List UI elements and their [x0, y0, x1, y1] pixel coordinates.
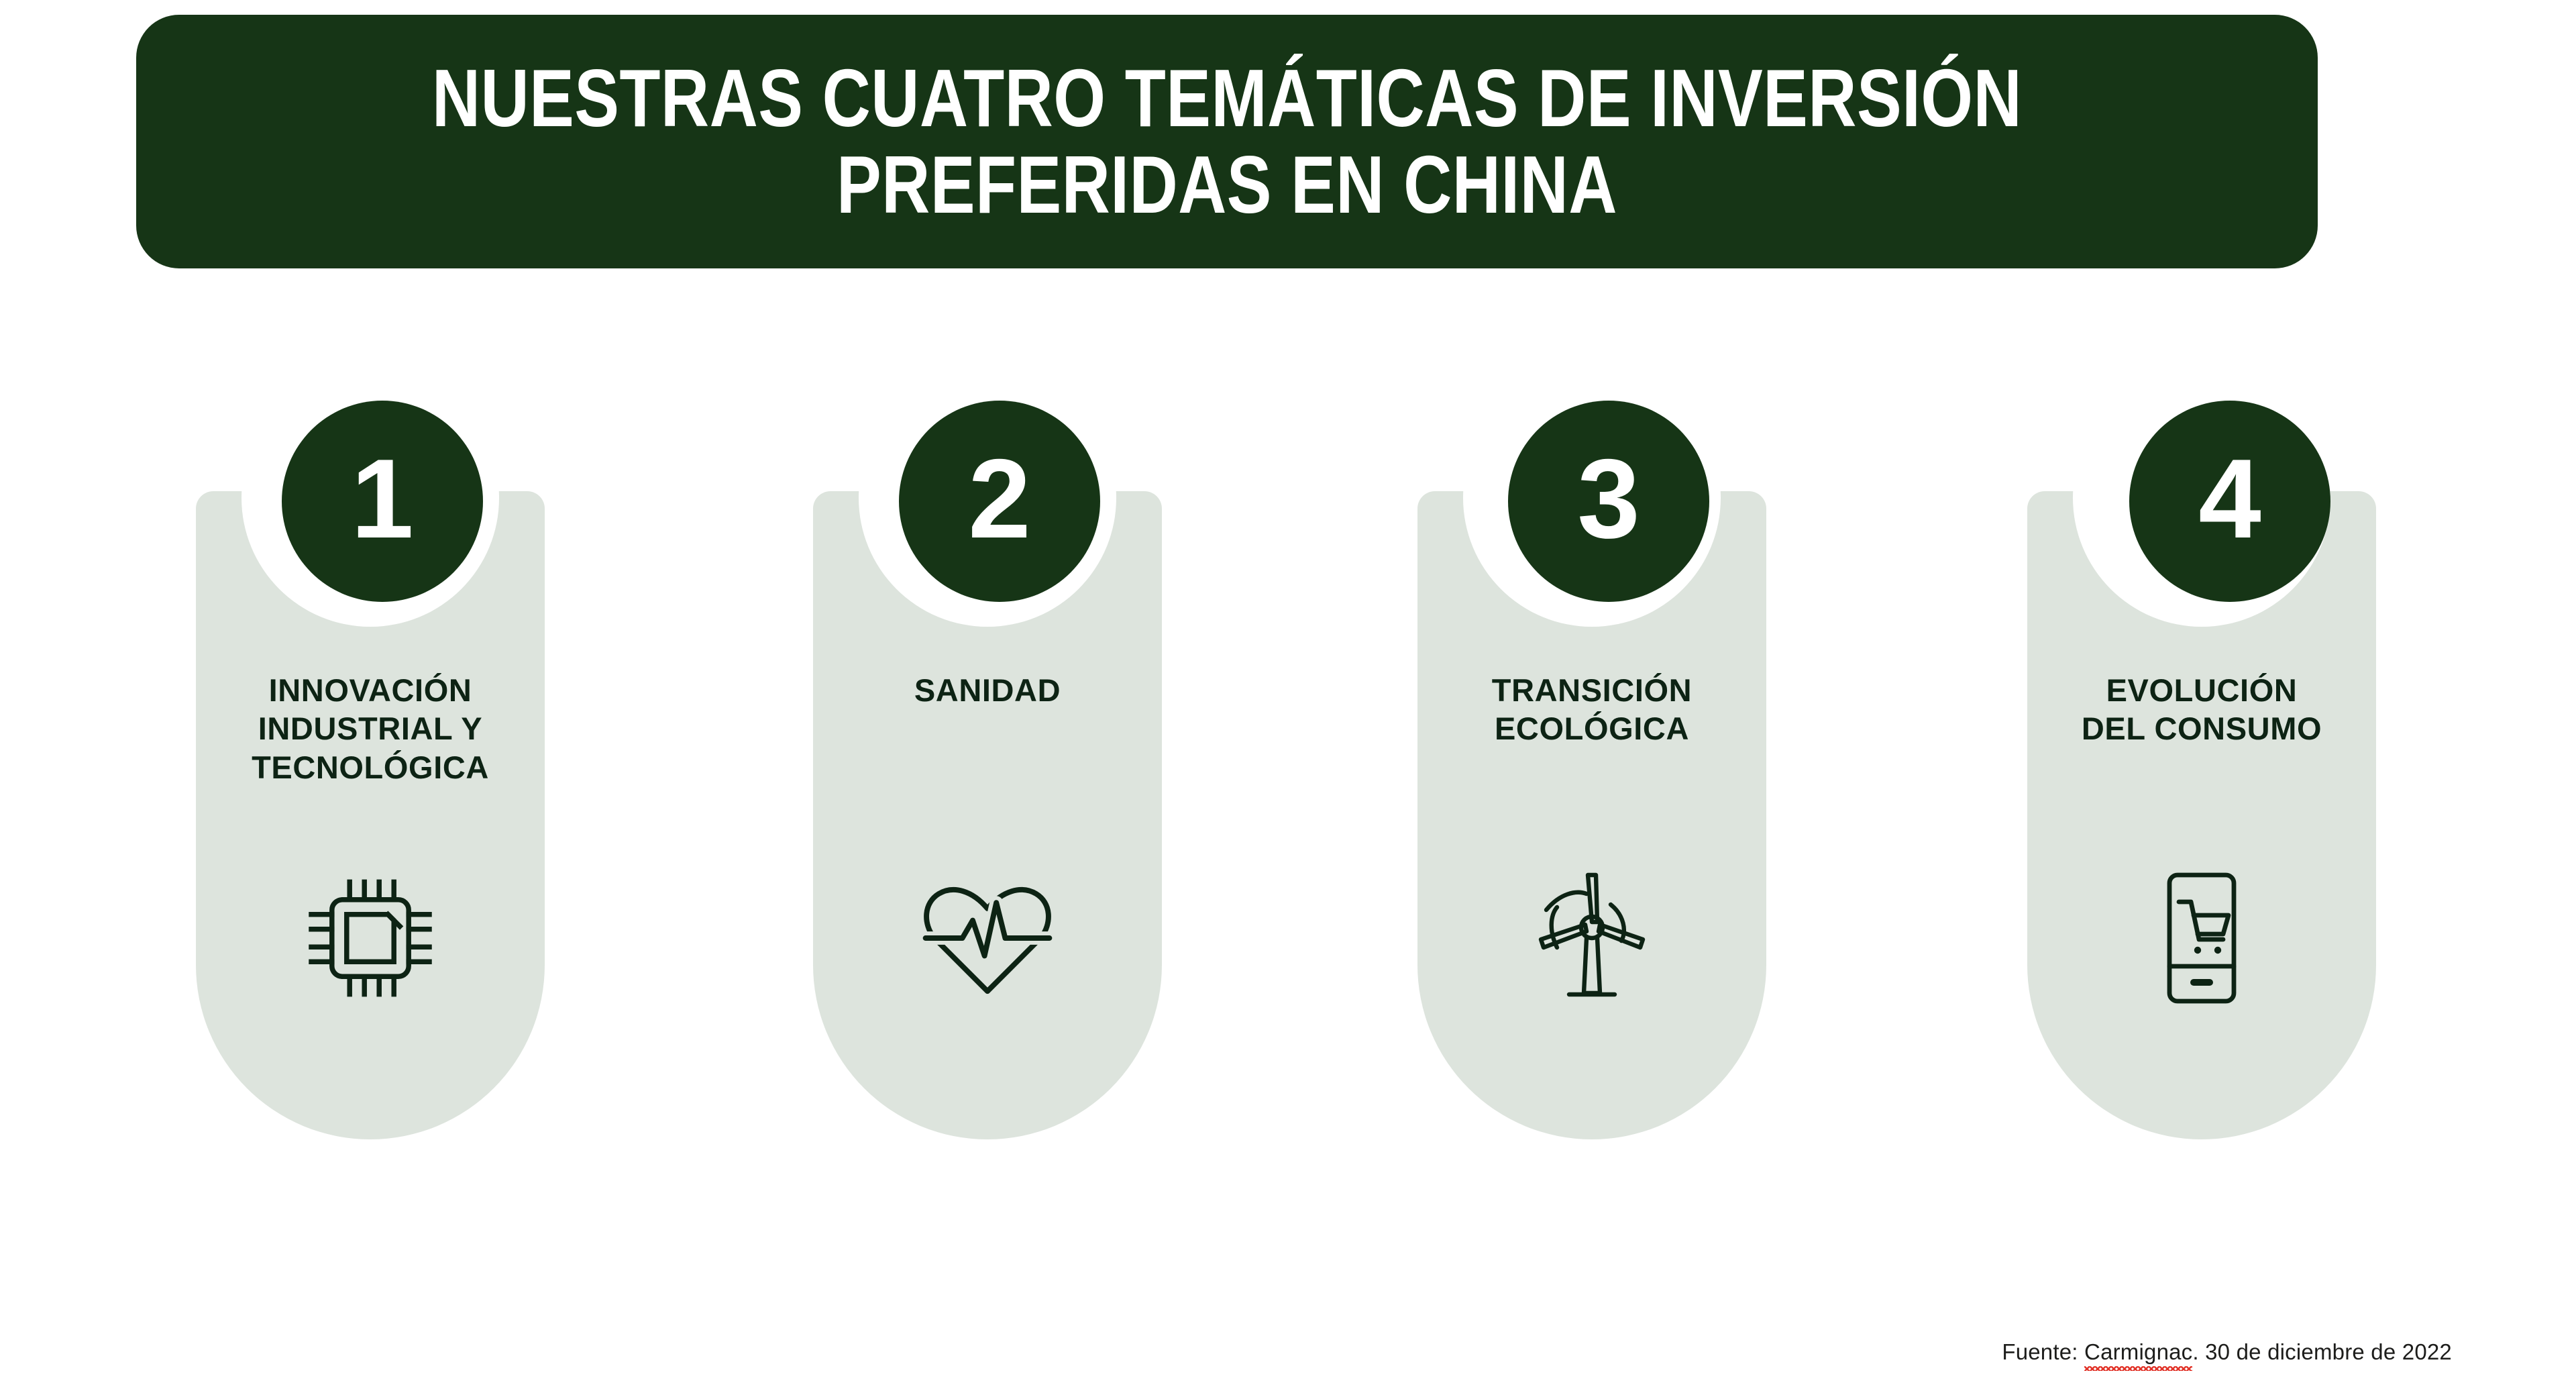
theme-label-3: TRANSICIÓN ECOLÓGICA [1417, 671, 1766, 748]
source-prefix: Fuente: [2002, 1339, 2084, 1364]
mobile-shopping-cart-icon [2128, 864, 2275, 1012]
source-name: Carmignac [2084, 1339, 2192, 1365]
theme-label-2: SANIDAD [813, 671, 1162, 709]
source-suffix: . 30 de diciembre de 2022 [2192, 1339, 2452, 1364]
theme-number-badge-1: 1 [282, 401, 483, 602]
theme-number-4: 4 [2198, 442, 2261, 555]
cpu-chip-icon [297, 864, 444, 1012]
theme-label-1: INNOVACIÓN INDUSTRIAL Y TECNOLÓGICA [196, 671, 545, 786]
theme-number-badge-4: 4 [2129, 401, 2330, 602]
source-note: Fuente: Carmignac. 30 de diciembre de 20… [2002, 1339, 2452, 1365]
theme-number-badge-3: 3 [1508, 401, 1709, 602]
theme-number-2: 2 [968, 442, 1030, 555]
theme-number-badge-2: 2 [899, 401, 1100, 602]
theme-label-4: EVOLUCIÓN DEL CONSUMO [2027, 671, 2376, 748]
wind-turbine-icon [1518, 864, 1666, 1012]
themes-row: INNOVACIÓN INDUSTRIAL Y TECNOLÓGICA 1 SA… [0, 0, 2576, 1387]
heart-pulse-icon [914, 864, 1061, 1012]
theme-number-3: 3 [1577, 442, 1640, 555]
theme-number-1: 1 [351, 442, 413, 555]
infographic-slide: NUESTRAS CUATRO TEMÁTICAS DE INVERSIÓN P… [0, 0, 2576, 1387]
